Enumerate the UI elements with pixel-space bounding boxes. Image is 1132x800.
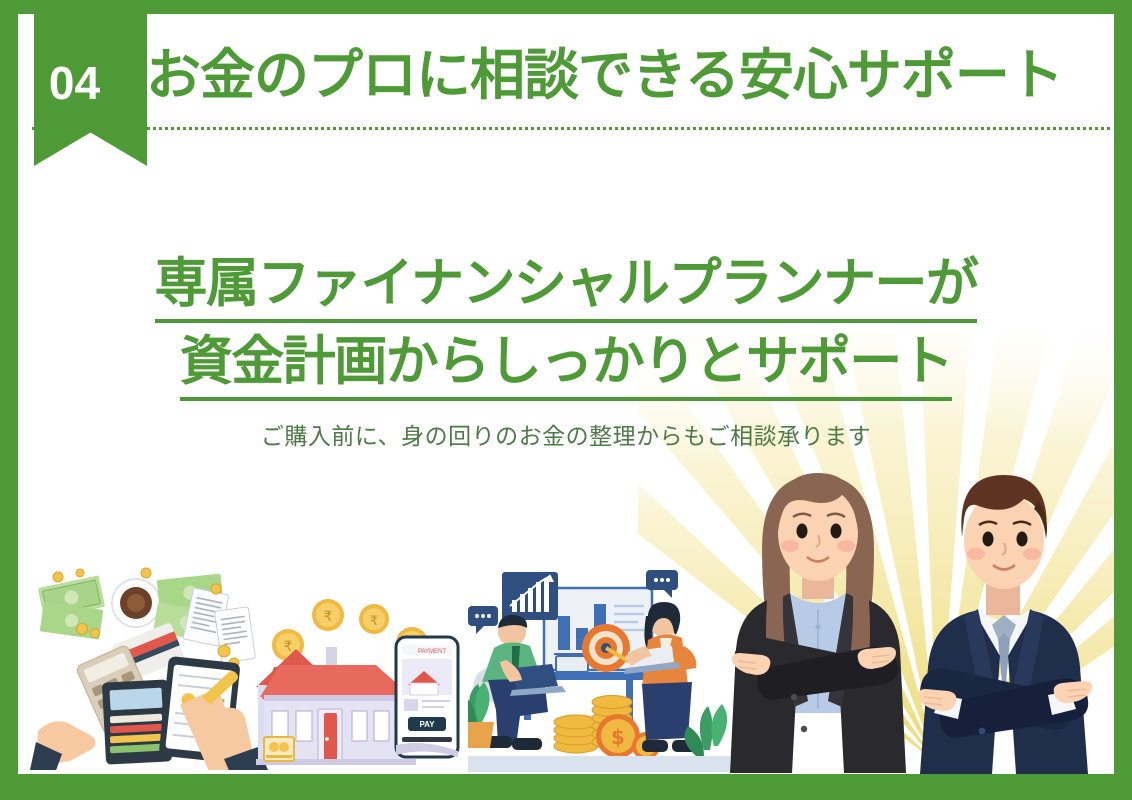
slide-root: 04 お金のプロに相談できる安心サポート [0, 0, 1132, 800]
headline-row-2: 資金計画からしっかりとサポート [18, 328, 1114, 401]
phone-screen-title: PAYMENT [418, 649, 446, 655]
headline-block: 専属ファイナンシャルプランナーが 資金計画からしっかりとサポート ご購入前に、身… [18, 250, 1114, 451]
section-number: 04 [18, 60, 131, 106]
home-payment-illustration: ₹ ₹ ₹ ₹ [256, 587, 484, 772]
phone-pay-button-label: PAY [419, 720, 435, 729]
woman-in-black-suit-arms-crossed [730, 473, 906, 773]
header-dotted-divider [32, 127, 1110, 130]
payment-phone: PAYMENT PAY [396, 637, 458, 757]
slide-card: 04 お金のプロに相談できる安心サポート [18, 14, 1114, 774]
hand-left-icon [30, 721, 96, 770]
dollar-coin-symbol: $ [611, 725, 625, 749]
business-consulting-illustration: $ [468, 550, 730, 772]
line-chart-screen [502, 572, 558, 620]
headline-line-2: 資金計画からしっかりとサポート [180, 328, 953, 401]
subtitle: ご購入前に、身の回りのお金の整理からもご相談承ります [18, 417, 1114, 451]
financial-planners-illustration [694, 429, 1114, 774]
slide-header: 04 お金のプロに相談できる安心サポート [18, 14, 1114, 174]
headline-row-1: 専属ファイナンシャルプランナーが [18, 250, 1114, 323]
man-in-navy-suit-arms-crossed [918, 475, 1092, 774]
svg-text:₹: ₹ [324, 609, 333, 625]
header-title: お金のプロに相談できる安心サポート [146, 46, 1096, 105]
signboard-icon [264, 737, 294, 761]
svg-text:₹: ₹ [284, 639, 293, 655]
headline-line-1: 専属ファイナンシャルプランナーが [155, 250, 978, 323]
personal-finance-desk-illustration [28, 555, 278, 770]
svg-text:₹: ₹ [370, 614, 378, 629]
